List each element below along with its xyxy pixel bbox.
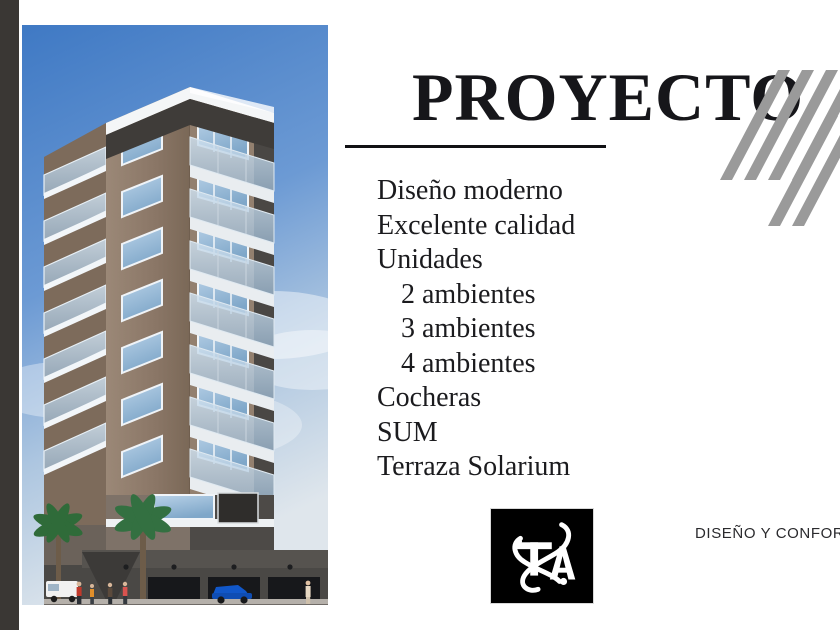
feature-item-terraza-solarium: Terraza Solarium: [377, 450, 807, 485]
feature-item-cocheras: Cocheras: [377, 381, 807, 416]
brand-tagline: DISEÑO Y CONFOR: [695, 525, 840, 542]
feature-item-diseno-moderno: Diseño moderno: [377, 174, 807, 209]
feature-item-4-ambientes: 4 ambientes: [377, 347, 807, 382]
feature-item-sum: SUM: [377, 416, 807, 451]
feature-list: Diseño moderno Excelente calidad Unidade…: [377, 174, 807, 485]
building-render-illustration: [22, 25, 328, 605]
slide-canvas: PROYECTO Diseño moderno Excelente calida…: [0, 0, 840, 630]
ta-monogram-icon: [491, 509, 593, 603]
feature-item-unidades: Unidades: [377, 243, 807, 278]
title-divider-rule: [345, 145, 606, 148]
feature-item-excelente-calidad: Excelente calidad: [377, 209, 807, 244]
letterbox-bar-left: [0, 0, 19, 630]
feature-item-2-ambientes: 2 ambientes: [377, 278, 807, 313]
page-title: PROYECTO: [412, 62, 804, 132]
building-photo: [22, 25, 328, 605]
brand-logo: [490, 508, 594, 604]
feature-item-3-ambientes: 3 ambientes: [377, 312, 807, 347]
